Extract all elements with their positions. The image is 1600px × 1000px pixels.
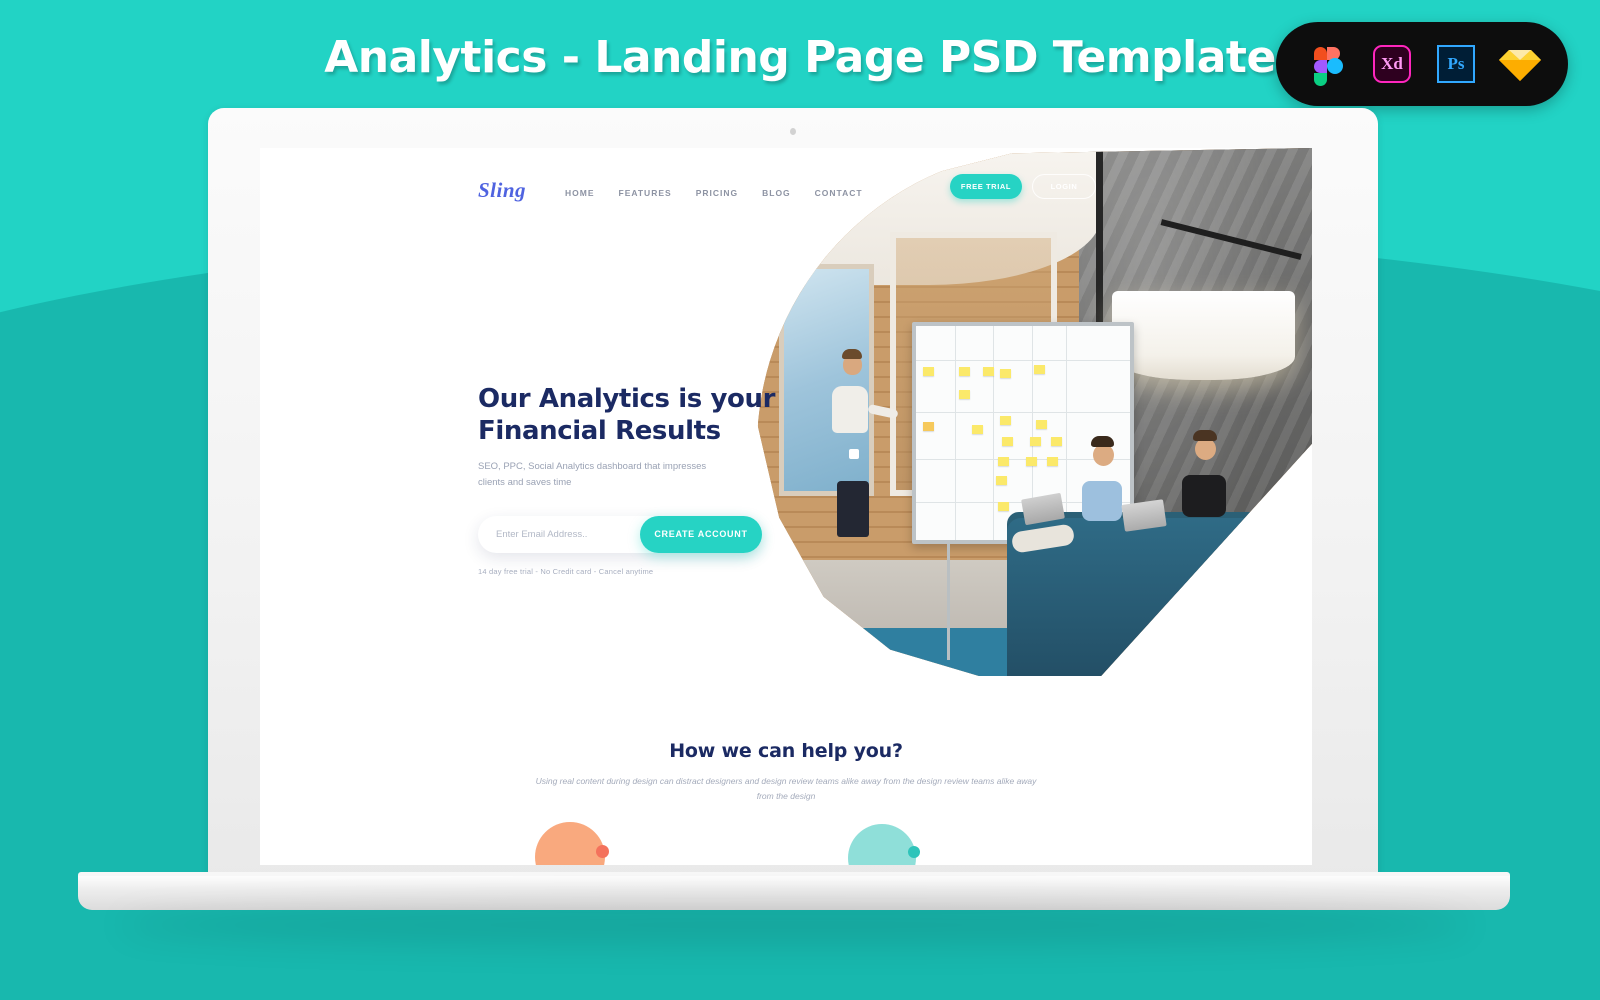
help-section: How we can help you? Using real content … xyxy=(260,740,1312,804)
hero-title-line-1: Our Analytics is your xyxy=(478,384,808,416)
lamp-shade xyxy=(1112,291,1295,381)
coffee-cup xyxy=(849,449,859,459)
help-section-title: How we can help you? xyxy=(260,740,1312,762)
signup-fineprint: 14 day free trial - No Credit card - Can… xyxy=(478,567,808,576)
laptop-device-2 xyxy=(1122,499,1167,532)
hero-subtitle: SEO, PPC, Social Analytics dashboard tha… xyxy=(478,459,733,489)
help-section-subtitle: Using real content during design can dis… xyxy=(526,774,1046,804)
login-button[interactable]: LOGIN xyxy=(1032,174,1096,199)
signup-form: CREATE ACCOUNT xyxy=(478,516,760,553)
person-standing-body xyxy=(832,386,868,433)
person-standing-legs xyxy=(837,481,869,537)
feature-circle-teal xyxy=(848,824,916,865)
person-seated-1-hair xyxy=(1091,436,1114,447)
site-navbar: Sling HOME FEATURES PRICING BLOG CONTACT… xyxy=(260,148,1312,234)
person-seated-1-body xyxy=(1082,481,1122,521)
nav-item-home[interactable]: HOME xyxy=(565,188,595,198)
person-seated-2-hair xyxy=(1193,430,1217,441)
feature-circle-orange xyxy=(535,822,605,865)
site-logo[interactable]: Sling xyxy=(478,178,526,203)
laptop-mockup: Sling HOME FEATURES PRICING BLOG CONTACT… xyxy=(0,0,1600,1000)
nav-item-features[interactable]: FEATURES xyxy=(619,188,672,198)
nav-item-blog[interactable]: BLOG xyxy=(762,188,791,198)
nav-item-contact[interactable]: CONTACT xyxy=(815,188,863,198)
create-account-button[interactable]: CREATE ACCOUNT xyxy=(640,516,762,553)
landing-page: Sling HOME FEATURES PRICING BLOG CONTACT… xyxy=(260,148,1312,865)
webcam-icon xyxy=(790,128,796,135)
person-standing-hair xyxy=(842,349,862,359)
hero-title-line-2: Financial Results xyxy=(478,416,808,448)
nav-links: HOME FEATURES PRICING BLOG CONTACT xyxy=(565,188,863,198)
nav-item-pricing[interactable]: PRICING xyxy=(696,188,738,198)
feature-circle-teal-dot xyxy=(908,846,920,858)
hero-title: Our Analytics is your Financial Results xyxy=(478,384,808,447)
laptop-screen: Sling HOME FEATURES PRICING BLOG CONTACT… xyxy=(260,148,1312,865)
help-subtitle-line-1: Using real content during design can dis… xyxy=(536,776,901,786)
hero-copy: Our Analytics is your Financial Results … xyxy=(478,384,808,576)
person-seated-2-body xyxy=(1182,475,1226,517)
person-seated-1-head xyxy=(1093,444,1114,466)
laptop-shadow xyxy=(120,905,1470,945)
laptop-lid: Sling HOME FEATURES PRICING BLOG CONTACT… xyxy=(208,108,1378,883)
free-trial-button[interactable]: FREE TRIAL xyxy=(950,174,1022,199)
email-input[interactable] xyxy=(496,516,656,553)
feature-circle-orange-dot xyxy=(596,845,609,858)
